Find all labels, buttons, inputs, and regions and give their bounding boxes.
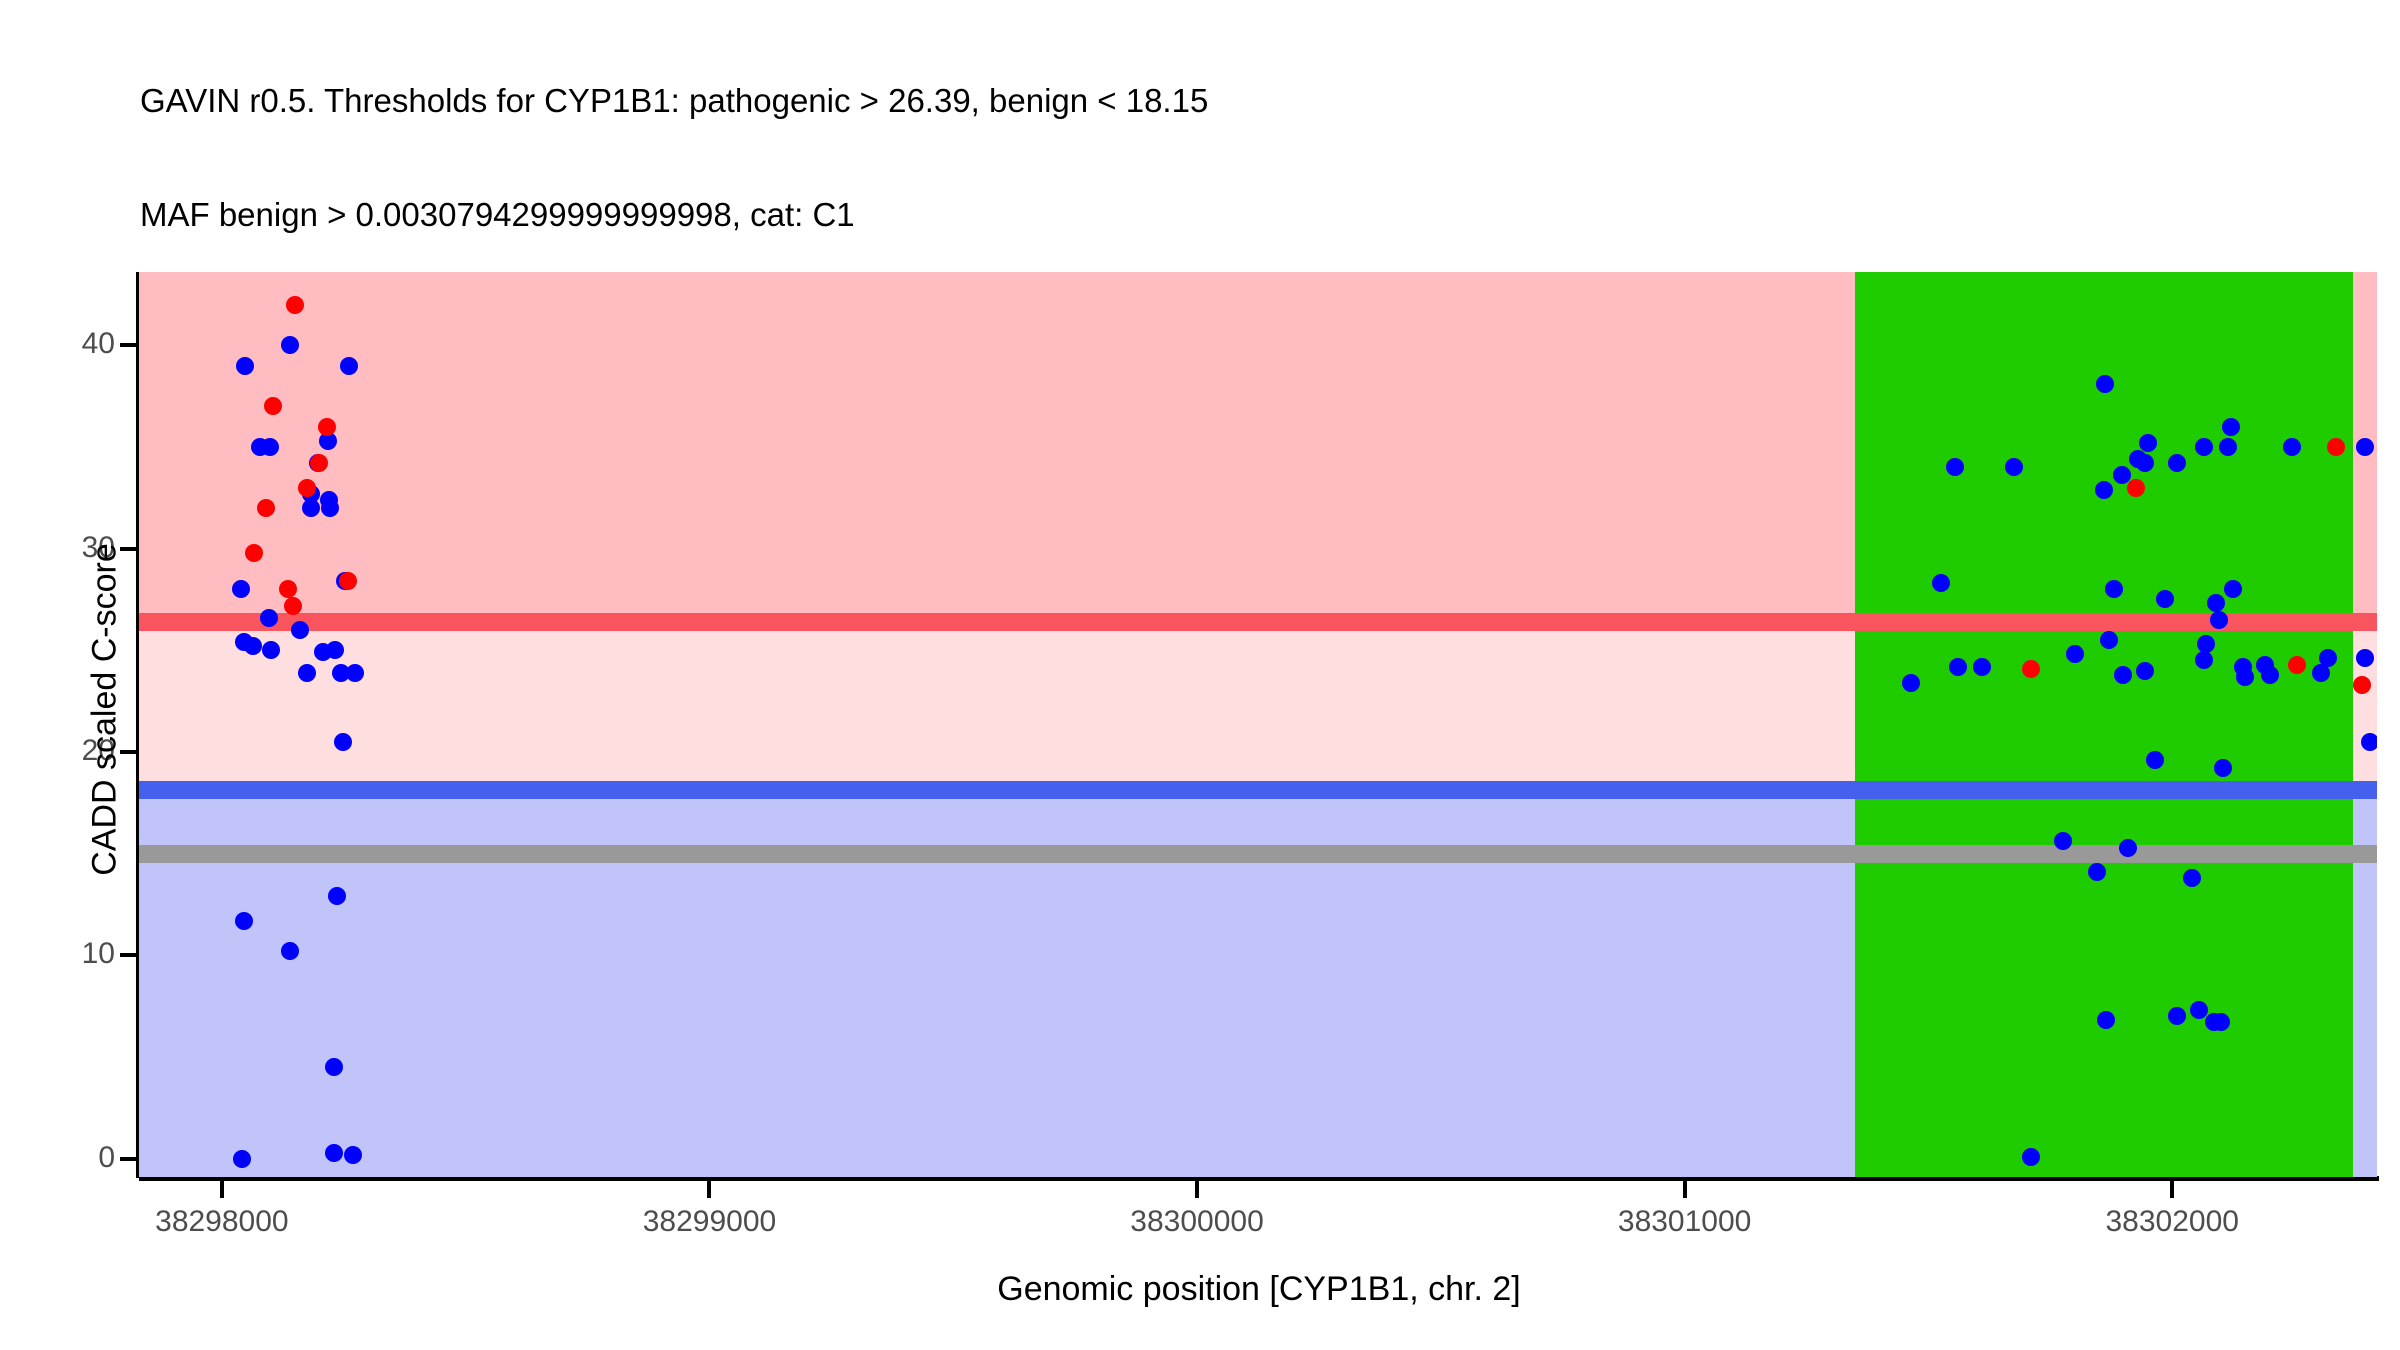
data-point [2222,418,2240,436]
data-point [2096,375,2114,393]
data-point [291,621,309,639]
data-point [2312,664,2330,682]
data-point [2119,839,2137,857]
data-point [2210,611,2228,629]
data-point [2183,869,2201,887]
data-point [2236,668,2254,686]
data-point [236,357,254,375]
data-point [2283,438,2301,456]
data-point [2105,580,2123,598]
data-point [325,1144,343,1162]
data-point [2100,631,2118,649]
data-point [2088,863,2106,881]
y-axis-label: CADD scaled C-score [86,260,125,1160]
data-point [260,609,278,627]
data-point [2005,458,2023,476]
data-point [2288,656,2306,674]
x-tick [2170,1181,2174,1198]
x-tick [220,1181,224,1198]
data-point [298,479,316,497]
data-point [279,580,297,598]
data-point [2261,666,2279,684]
pathogenic-threshold-line [139,613,2377,631]
data-point [344,1146,362,1164]
title-line-1: GAVIN r0.5. Thresholds for CYP1B1: patho… [140,82,2340,120]
data-point [2361,733,2377,751]
data-point [262,641,280,659]
fallback-threshold-line [139,845,2377,863]
plot-panel [139,272,2377,1177]
data-point [2022,1148,2040,1166]
data-point [261,438,279,456]
x-tick [1195,1181,1199,1198]
data-point [318,418,336,436]
data-point [235,912,253,930]
data-point [2127,479,2145,497]
data-point [2022,660,2040,678]
data-point [2054,832,2072,850]
chart-figure: GAVIN r0.5. Thresholds for CYP1B1: patho… [0,0,2400,1350]
data-point [2066,645,2084,663]
data-point [321,499,339,517]
data-point [2139,434,2157,452]
benign-threshold-line [139,781,2377,799]
data-point [334,733,352,751]
x-tick [1683,1181,1687,1198]
x-tick-label: 38299000 [643,1205,776,1239]
data-point [245,544,263,562]
data-point [346,664,364,682]
data-point [340,357,358,375]
data-point [298,664,316,682]
x-tick-label: 38301000 [1618,1205,1751,1239]
x-tick-label: 38300000 [1130,1205,1263,1239]
x-tick [707,1181,711,1198]
x-tick-label: 38298000 [155,1205,288,1239]
data-point [2195,438,2213,456]
x-tick-label: 38302000 [2105,1205,2238,1239]
data-point [2327,438,2345,456]
data-point [2136,662,2154,680]
data-point [302,499,320,517]
data-point [1973,658,1991,676]
data-point [1949,658,1967,676]
title-line-2: MAF benign > 0.0030794299999999998, cat:… [140,196,2340,234]
x-axis-label: Genomic position [CYP1B1, chr. 2] [139,1270,2379,1309]
data-point [2095,481,2113,499]
data-point [257,499,275,517]
exon-region-0 [1855,272,2352,1177]
data-point [1932,574,1950,592]
data-point [244,637,262,655]
data-point [233,1150,251,1168]
data-point [2356,438,2374,456]
data-point [339,572,357,590]
data-point [284,597,302,615]
data-point [286,296,304,314]
